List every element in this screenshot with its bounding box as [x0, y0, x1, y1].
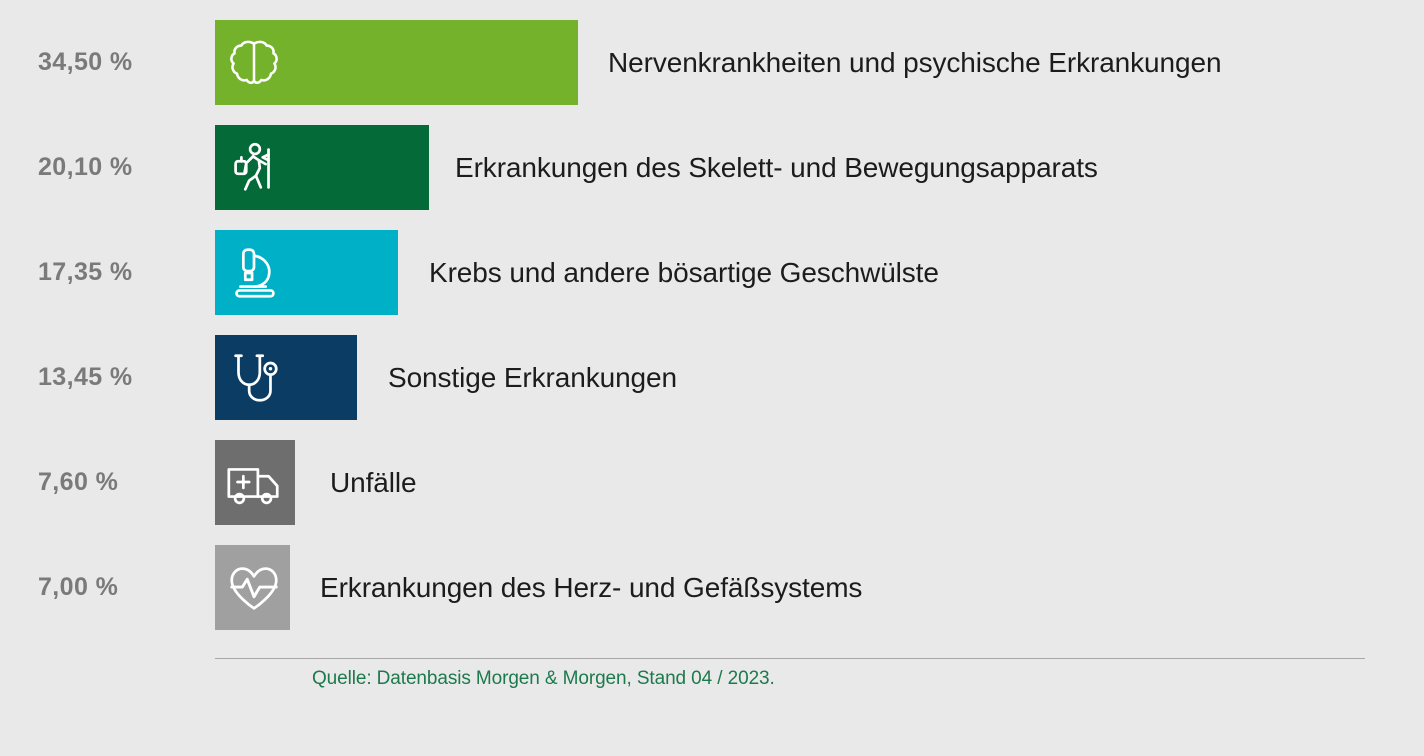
category-label: Erkrankungen des Skelett- und Bewegungsa…: [455, 125, 1098, 210]
footer-divider: [215, 658, 1365, 659]
category-label: Nervenkrankheiten und psychische Erkrank…: [608, 20, 1221, 105]
table-row: 7,60 % Unfälle: [0, 440, 1424, 525]
table-row: 20,10 % Erkrankungen de: [0, 125, 1424, 210]
bar-2: [215, 230, 398, 315]
stethoscope-icon: [223, 347, 285, 409]
category-label: Erkrankungen des Herz- und Gefäßsystems: [320, 545, 862, 630]
brain-icon: [223, 32, 285, 94]
bar-5: [215, 545, 290, 630]
value-label: 34,50 %: [38, 20, 133, 105]
value-label: 7,60 %: [38, 440, 118, 525]
hiker-icon: [223, 137, 285, 199]
table-row: 13,45 % Sonstige Erkrankungen: [0, 335, 1424, 420]
heart-pulse-icon: [223, 557, 285, 619]
bar-rows: 34,50 % Nervenkrankheiten und psychische…: [0, 20, 1424, 650]
category-label: Krebs und andere bösartige Geschwülste: [429, 230, 939, 315]
value-label: 17,35 %: [38, 230, 133, 315]
bar-chart: 34,50 % Nervenkrankheiten und psychische…: [0, 0, 1424, 756]
bar-4: [215, 440, 295, 525]
ambulance-icon: [223, 452, 285, 514]
bar-3: [215, 335, 357, 420]
table-row: 34,50 % Nervenkrankheiten und psychische…: [0, 20, 1424, 105]
value-label: 7,00 %: [38, 545, 118, 630]
value-label: 13,45 %: [38, 335, 133, 420]
table-row: 7,00 % Erkrankungen des Herz- und Gefäßs…: [0, 545, 1424, 630]
category-label: Sonstige Erkrankungen: [388, 335, 677, 420]
source-note: Quelle: Datenbasis Morgen & Morgen, Stan…: [312, 668, 775, 690]
category-label: Unfälle: [330, 440, 416, 525]
microscope-icon: [223, 242, 285, 304]
value-label: 20,10 %: [38, 125, 133, 210]
bar-1: [215, 125, 429, 210]
bar-0: [215, 20, 578, 105]
table-row: 17,35 % Krebs und andere bösartige Gesch…: [0, 230, 1424, 315]
